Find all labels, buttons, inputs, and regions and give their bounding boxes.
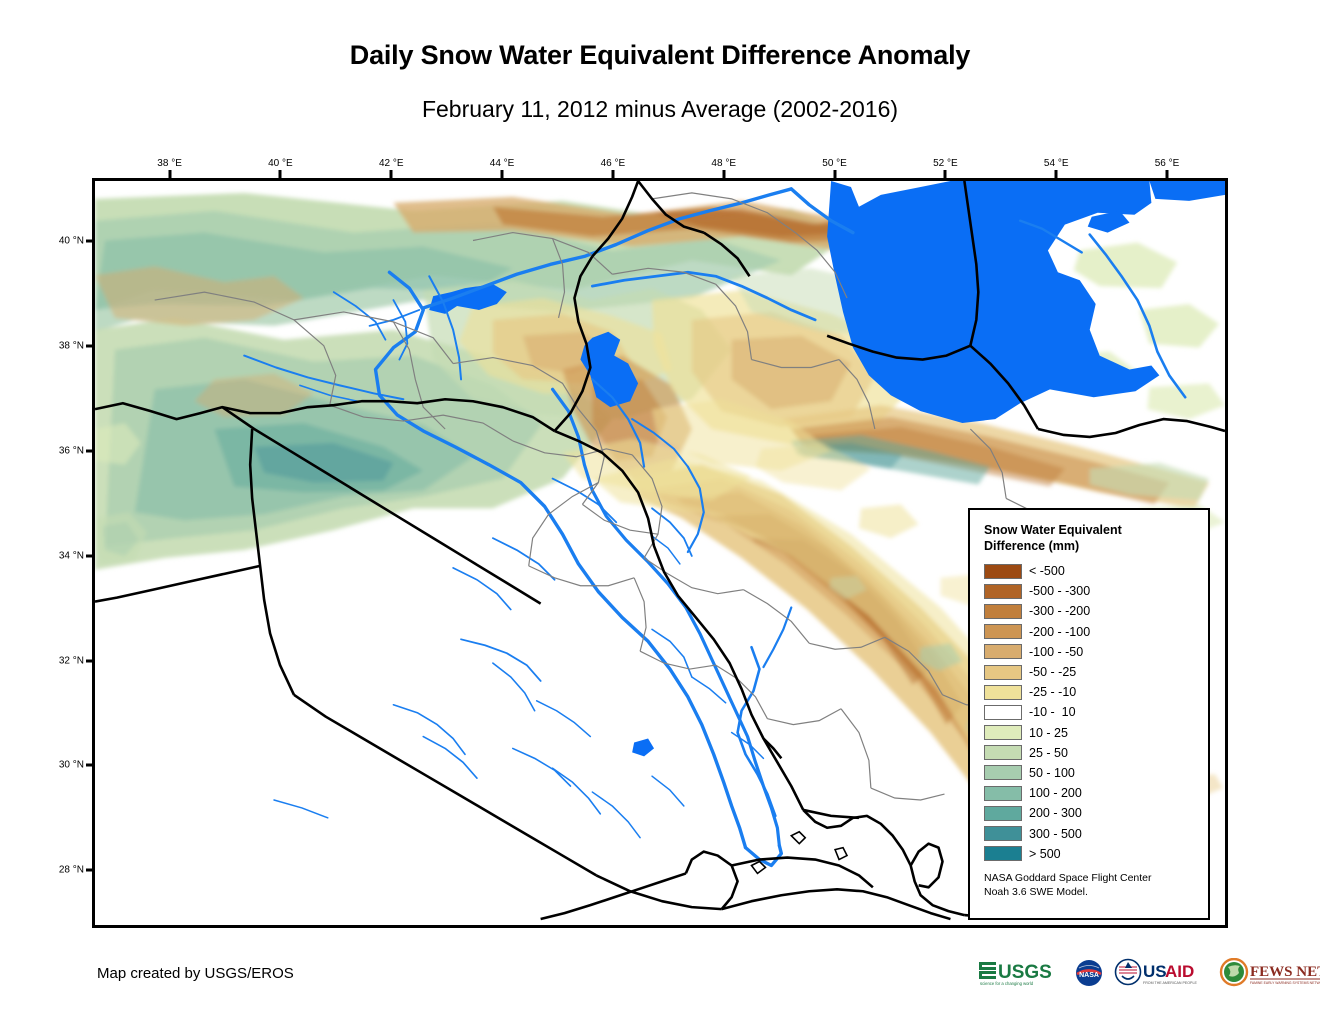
- legend-row: > 500: [984, 844, 1194, 864]
- legend-color-swatch: [984, 624, 1022, 639]
- legend-color-swatch: [984, 725, 1022, 740]
- svg-text:FEWS NET: FEWS NET: [1250, 964, 1320, 980]
- legend-color-swatch: [984, 786, 1022, 801]
- legend-class-label: < -500: [1029, 564, 1065, 578]
- lon-tick-label: 56 °E: [1155, 158, 1180, 169]
- usaid-logo[interactable]: US AID FROM THE AMERICAN PEOPLE: [1114, 958, 1210, 988]
- svg-text:FROM THE AMERICAN PEOPLE: FROM THE AMERICAN PEOPLE: [1143, 981, 1197, 985]
- legend-class-label: 300 - 500: [1029, 827, 1082, 841]
- page-subtitle: February 11, 2012 minus Average (2002-20…: [0, 96, 1320, 123]
- legend-color-swatch: [984, 685, 1022, 700]
- svg-text:NASA: NASA: [1079, 972, 1099, 979]
- map-credit: Map created by USGS/EROS: [97, 965, 294, 982]
- legend-row: -50 - -25: [984, 662, 1194, 682]
- svg-text:FAMINE EARLY WARNING SYSTEMS N: FAMINE EARLY WARNING SYSTEMS NETWORK: [1250, 981, 1320, 985]
- legend-class-label: 10 - 25: [1029, 726, 1068, 740]
- legend-title: Snow Water Equivalent Difference (mm): [984, 522, 1194, 554]
- lat-tick-label: 32 °N: [48, 655, 84, 666]
- legend-color-swatch: [984, 705, 1022, 720]
- lon-tick-label: 44 °E: [490, 158, 515, 169]
- nasa-logo[interactable]: NASA: [1073, 958, 1105, 988]
- lon-tick-label: 52 °E: [933, 158, 958, 169]
- legend-color-swatch: [984, 745, 1022, 760]
- legend-row: -10 - 10: [984, 702, 1194, 722]
- legend-class-label: -10 - 10: [1029, 705, 1076, 719]
- legend-class-label: > 500: [1029, 847, 1061, 861]
- legend-color-swatch: [984, 846, 1022, 861]
- legend-class-list: < -500-500 - -300-300 - -200-200 - -100-…: [984, 561, 1194, 864]
- lat-tick-label: 34 °N: [48, 550, 84, 561]
- legend-row: -25 - -10: [984, 682, 1194, 702]
- legend-class-label: -300 - -200: [1029, 604, 1090, 618]
- lat-tick-label: 38 °N: [48, 340, 84, 351]
- legend-class-label: -50 - -25: [1029, 665, 1076, 679]
- lon-tick-label: 50 °E: [822, 158, 847, 169]
- usgs-logo[interactable]: USGS science for a changing world: [978, 958, 1064, 988]
- legend-color-swatch: [984, 604, 1022, 619]
- legend-row: 50 - 100: [984, 763, 1194, 783]
- svg-text:US: US: [1143, 962, 1167, 981]
- legend-class-label: -500 - -300: [1029, 584, 1090, 598]
- legend-color-swatch: [984, 665, 1022, 680]
- legend-class-label: 200 - 300: [1029, 806, 1082, 820]
- legend-color-swatch: [984, 806, 1022, 821]
- lon-tick-label: 54 °E: [1044, 158, 1069, 169]
- legend-class-label: -25 - -10: [1029, 685, 1076, 699]
- legend-class-label: 50 - 100: [1029, 766, 1075, 780]
- lat-tick-label: 30 °N: [48, 760, 84, 771]
- svg-text:AID: AID: [1165, 962, 1194, 981]
- fewsnet-logo[interactable]: FEWS NET FAMINE EARLY WARNING SYSTEMS NE…: [1219, 958, 1320, 988]
- lat-tick-label: 28 °N: [48, 865, 84, 876]
- agency-logo-bar: USGS science for a changing world NASA U…: [978, 955, 1320, 991]
- page-title: Daily Snow Water Equivalent Difference A…: [0, 40, 1320, 71]
- legend-color-swatch: [984, 765, 1022, 780]
- lat-tick-label: 40 °N: [48, 235, 84, 246]
- legend-row: 200 - 300: [984, 803, 1194, 823]
- map-page: Daily Snow Water Equivalent Difference A…: [0, 0, 1320, 1020]
- lat-tick-label: 36 °N: [48, 445, 84, 456]
- lon-tick-label: 46 °E: [601, 158, 626, 169]
- legend-row: -100 - -50: [984, 642, 1194, 662]
- lon-tick-label: 48 °E: [711, 158, 736, 169]
- legend-row: < -500: [984, 561, 1194, 581]
- svg-text:science for a changing world: science for a changing world: [980, 981, 1034, 986]
- legend-class-label: -100 - -50: [1029, 645, 1083, 659]
- legend-color-swatch: [984, 564, 1022, 579]
- legend-row: 300 - 500: [984, 823, 1194, 843]
- legend-row: 10 - 25: [984, 723, 1194, 743]
- lon-tick-label: 38 °E: [157, 158, 182, 169]
- legend-color-swatch: [984, 584, 1022, 599]
- legend-color-swatch: [984, 644, 1022, 659]
- lon-tick-label: 42 °E: [379, 158, 404, 169]
- legend-row: -200 - -100: [984, 622, 1194, 642]
- legend-class-label: 100 - 200: [1029, 786, 1082, 800]
- legend-source-text: NASA Goddard Space Flight Center Noah 3.…: [984, 871, 1194, 899]
- legend-row: 100 - 200: [984, 783, 1194, 803]
- map-legend: Snow Water Equivalent Difference (mm) < …: [968, 508, 1210, 920]
- legend-row: -300 - -200: [984, 601, 1194, 621]
- svg-text:USGS: USGS: [998, 962, 1052, 983]
- legend-class-label: -200 - -100: [1029, 625, 1090, 639]
- legend-color-swatch: [984, 826, 1022, 841]
- legend-row: 25 - 50: [984, 743, 1194, 763]
- legend-class-label: 25 - 50: [1029, 746, 1068, 760]
- lon-tick-label: 40 °E: [268, 158, 293, 169]
- legend-row: -500 - -300: [984, 581, 1194, 601]
